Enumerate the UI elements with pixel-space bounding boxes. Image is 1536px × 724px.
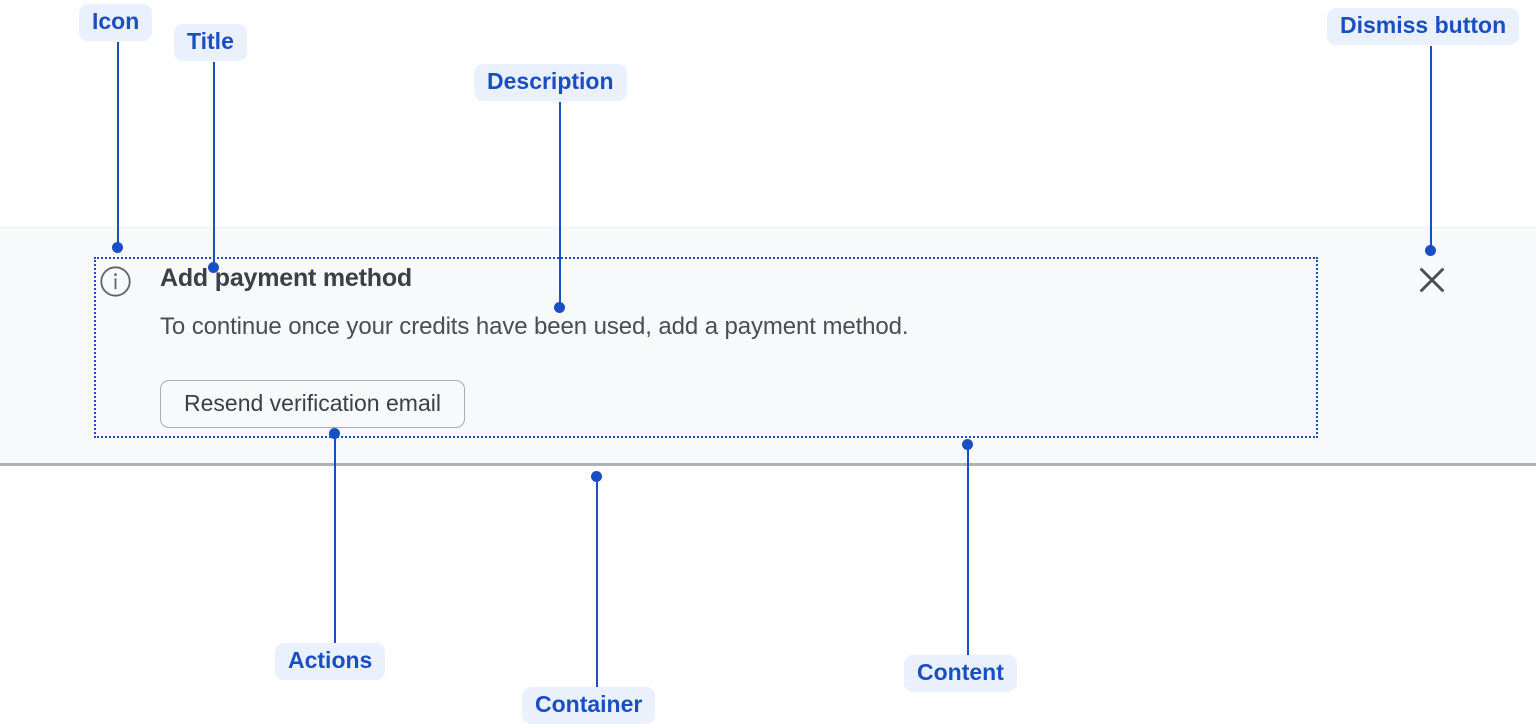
resend-verification-email-button[interactable]: Resend verification email: [160, 380, 465, 428]
annotation-container-label: Container: [522, 687, 655, 724]
annotation-description-dot: [554, 302, 565, 313]
annotation-content-leader: [967, 448, 969, 655]
banner-content-region: Add payment method To continue once your…: [96, 259, 1316, 436]
annotation-content-label: Content: [904, 655, 1017, 692]
banner-actions: Resend verification email: [160, 380, 465, 428]
close-icon: [1415, 263, 1449, 297]
annotation-icon-label: Icon: [79, 4, 152, 41]
info-circle-icon: [100, 266, 131, 297]
screenshot-root: Add payment method To continue once your…: [0, 0, 1536, 724]
annotation-container-leader: [596, 480, 598, 687]
annotation-dismiss-label: Dismiss button: [1327, 8, 1519, 45]
banner-description: To continue once your credits have been …: [160, 313, 908, 341]
banner-top-edge: [0, 227, 1536, 228]
annotation-dismiss-leader: [1430, 46, 1432, 246]
annotation-description-label: Description: [474, 64, 627, 101]
annotation-icon-leader: [117, 42, 119, 248]
annotation-actions-label: Actions: [275, 643, 385, 680]
annotation-description-leader: [559, 102, 561, 306]
annotation-title-label: Title: [174, 24, 247, 61]
banner-title: Add payment method: [160, 264, 412, 293]
annotation-title-leader: [213, 62, 215, 262]
dismiss-button[interactable]: [1415, 263, 1449, 297]
annotation-icon-dot: [112, 242, 123, 253]
annotation-actions-dot: [329, 428, 340, 439]
annotation-container-dot: [591, 471, 602, 482]
annotation-content-dot: [962, 439, 973, 450]
annotation-actions-leader: [334, 437, 336, 643]
annotation-title-dot: [208, 262, 219, 273]
annotation-dismiss-dot: [1425, 245, 1436, 256]
